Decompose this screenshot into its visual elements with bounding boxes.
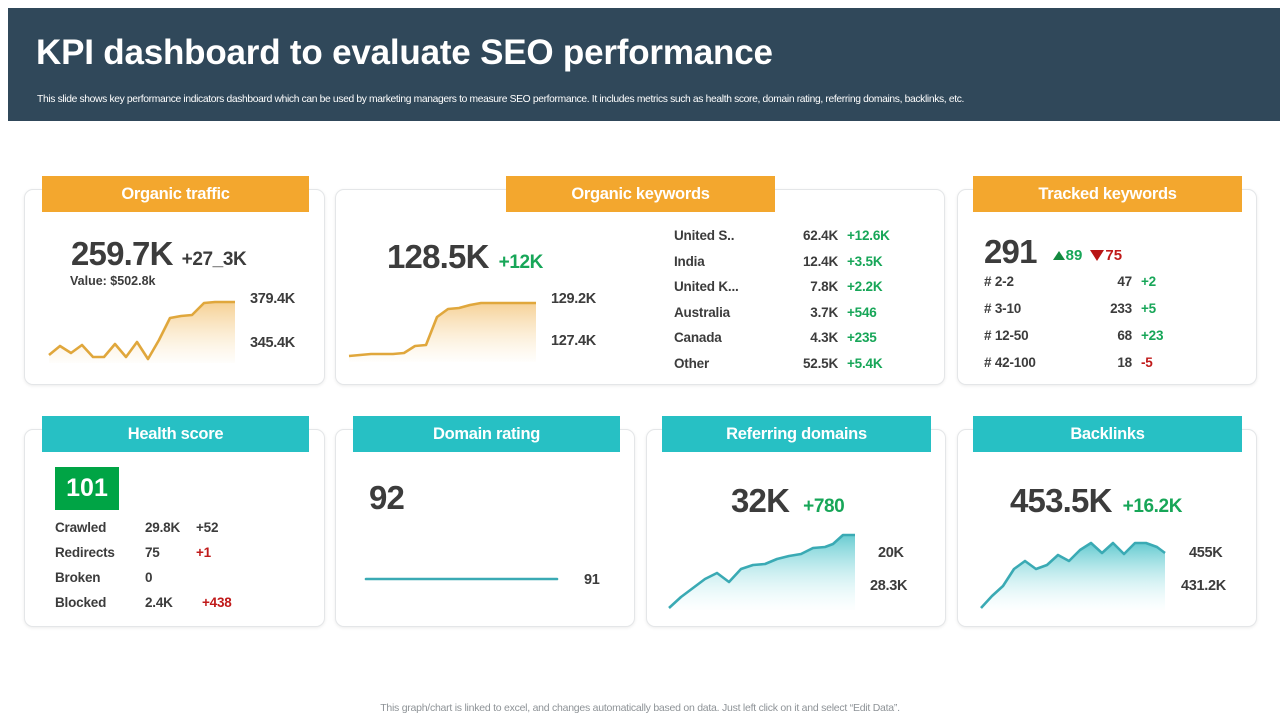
card-header-domain-rating: Domain rating [353, 416, 620, 452]
domain-rating-sparkline [364, 573, 560, 585]
table-row[interactable]: # 3-10 233 +5 [984, 301, 1176, 328]
range-name: # 3-10 [984, 301, 1084, 316]
region-value: 4.3K [784, 330, 838, 345]
region-delta: +3.5K [838, 254, 898, 269]
card-header-organic-traffic: Organic traffic [42, 176, 309, 212]
metric-name: Blocked [55, 595, 145, 610]
metric-name: Redirects [55, 545, 145, 560]
footer-note: This graph/chart is linked to excel, and… [0, 702, 1280, 714]
range-name: # 12-50 [984, 328, 1084, 343]
range-value: 47 [1084, 274, 1132, 289]
organic-keywords-axis-label-1: 127.4K [551, 333, 596, 349]
card-header-health-score: Health score [42, 416, 309, 452]
metric-name: Crawled [55, 520, 145, 535]
tracked-keywords-down-count: 75 [1105, 247, 1122, 264]
range-name: # 42-100 [984, 355, 1084, 370]
referring-domains-axis-label-1: 28.3K [870, 578, 907, 594]
health-score-badge: 101 [55, 467, 119, 510]
tracked-keywords-value: 291 [984, 233, 1037, 271]
list-item[interactable]: Other 52.5K +5.4K [674, 356, 898, 382]
range-delta: +2 [1132, 274, 1176, 289]
organic-traffic-axis-label-0: 379.4K [250, 291, 295, 307]
range-delta: -5 [1132, 355, 1176, 370]
card-organic-traffic[interactable]: Organic traffic 259.7K +27_3K Value: $50… [24, 189, 325, 385]
referring-domains-axis-label-0: 20K [878, 545, 904, 561]
page-title: KPI dashboard to evaluate SEO performanc… [36, 33, 773, 73]
card-header-backlinks: Backlinks [973, 416, 1242, 452]
backlinks-delta: +16.2K [1123, 496, 1182, 518]
card-header-referring-domains: Referring domains [662, 416, 931, 452]
organic-keywords-sparkline [347, 302, 547, 364]
backlinks-axis-label-1: 431.2K [1181, 578, 1226, 594]
tracked-keywords-up-count: 89 [1066, 247, 1083, 264]
range-name: # 2-2 [984, 274, 1084, 289]
region-value: 62.4K [784, 228, 838, 243]
slide-header: KPI dashboard to evaluate SEO performanc… [8, 8, 1280, 121]
metric-value: 75 [145, 545, 191, 560]
region-value: 3.7K [784, 305, 838, 320]
region-delta: +235 [838, 330, 898, 345]
region-value: 52.5K [784, 356, 838, 371]
region-name: United S.. [674, 228, 784, 243]
table-row[interactable]: Redirects 75 +1 [55, 545, 232, 570]
metric-delta: +1 [191, 545, 211, 560]
organic-keywords-axis-label-0: 129.2K [551, 291, 596, 307]
domain-rating-axis-label-0: 91 [584, 572, 600, 588]
metric-delta: +52 [191, 520, 218, 535]
region-name: Australia [674, 305, 784, 320]
region-name: United K... [674, 279, 784, 294]
backlinks-sparkline [976, 528, 1176, 612]
region-name: Canada [674, 330, 784, 345]
list-item[interactable]: Canada 4.3K +235 [674, 330, 898, 356]
card-header-tracked-keywords: Tracked keywords [973, 176, 1242, 212]
page-subtitle: This slide shows key performance indicat… [37, 94, 964, 105]
organic-traffic-sparkline [47, 300, 237, 365]
card-organic-keywords[interactable]: Organic keywords 128.5K +12K 129.2K 127.… [335, 189, 945, 385]
health-score-value: 101 [66, 474, 108, 503]
referring-domains-value: 32K [731, 482, 789, 520]
region-name: India [674, 254, 784, 269]
card-health-score[interactable]: Health score 101 Crawled 29.8K +52 Redir… [24, 429, 325, 627]
organic-keywords-delta: +12K [499, 252, 543, 274]
referring-domains-sparkline [665, 528, 865, 612]
card-domain-rating[interactable]: Domain rating 92 91 [335, 429, 635, 627]
organic-traffic-sub-value: Value: $502.8k [70, 274, 155, 288]
triangle-up-icon [1053, 251, 1065, 260]
organic-traffic-axis-label-1: 345.4K [250, 335, 295, 351]
metric-value: 0 [145, 570, 191, 585]
list-item[interactable]: India 12.4K +3.5K [674, 254, 898, 280]
region-value: 12.4K [784, 254, 838, 269]
range-delta: +5 [1132, 301, 1176, 316]
list-item[interactable]: United K... 7.8K +2.2K [674, 279, 898, 305]
region-delta: +5.4K [838, 356, 898, 371]
organic-traffic-delta: +27_3K [182, 249, 247, 271]
card-tracked-keywords[interactable]: Tracked keywords 291 89 75 # 2-2 47 +2 #… [957, 189, 1257, 385]
region-name: Other [674, 356, 784, 371]
table-row[interactable]: Crawled 29.8K +52 [55, 520, 232, 545]
organic-traffic-value: 259.7K [71, 235, 173, 273]
metric-delta: +438 [191, 595, 232, 610]
tracked-keywords-range-list: # 2-2 47 +2 # 3-10 233 +5 # 12-50 68 +23… [984, 274, 1176, 382]
range-value: 18 [1084, 355, 1132, 370]
table-row[interactable]: Broken 0 [55, 570, 232, 595]
backlinks-axis-label-0: 455K [1189, 545, 1222, 561]
card-referring-domains[interactable]: Referring domains 32K +780 20K 28.3K [646, 429, 946, 627]
card-backlinks[interactable]: Backlinks 453.5K +16.2K 455K 431.2K [957, 429, 1257, 627]
region-delta: +546 [838, 305, 898, 320]
card-header-organic-keywords: Organic keywords [506, 176, 775, 212]
range-value: 68 [1084, 328, 1132, 343]
table-row[interactable]: # 42-100 18 -5 [984, 355, 1176, 382]
triangle-down-icon [1090, 250, 1104, 261]
referring-domains-delta: +780 [803, 496, 844, 518]
backlinks-value: 453.5K [1010, 482, 1112, 520]
table-row[interactable]: # 12-50 68 +23 [984, 328, 1176, 355]
region-delta: +12.6K [838, 228, 898, 243]
metric-value: 2.4K [145, 595, 191, 610]
table-row[interactable]: # 2-2 47 +2 [984, 274, 1176, 301]
region-value: 7.8K [784, 279, 838, 294]
range-delta: +23 [1132, 328, 1176, 343]
domain-rating-value: 92 [369, 479, 404, 517]
range-value: 233 [1084, 301, 1132, 316]
list-item[interactable]: Australia 3.7K +546 [674, 305, 898, 331]
health-score-metric-list: Crawled 29.8K +52 Redirects 75 +1 Broken… [55, 520, 232, 620]
organic-keywords-value: 128.5K [387, 238, 489, 276]
organic-keywords-region-list: United S.. 62.4K +12.6K India 12.4K +3.5… [674, 228, 898, 381]
table-row[interactable]: Blocked 2.4K +438 [55, 595, 232, 620]
region-delta: +2.2K [838, 279, 898, 294]
metric-name: Broken [55, 570, 145, 585]
list-item[interactable]: United S.. 62.4K +12.6K [674, 228, 898, 254]
metric-value: 29.8K [145, 520, 191, 535]
